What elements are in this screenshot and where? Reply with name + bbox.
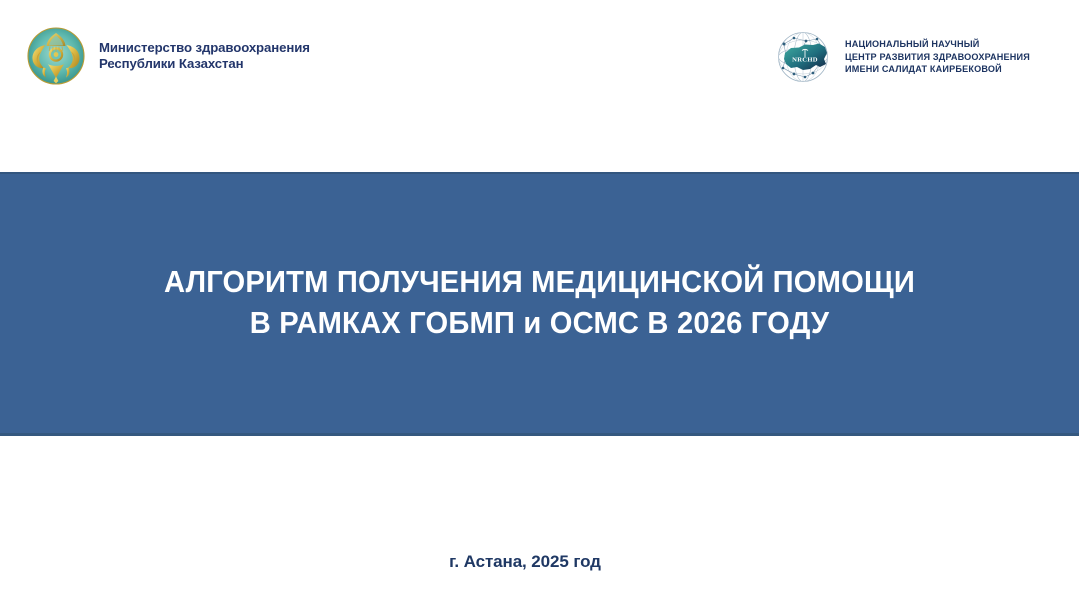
page-title-line-1: АЛГОРИТМ ПОЛУЧЕНИЯ МЕДИЦИНСКОЙ ПОМОЩИ bbox=[32, 261, 1046, 302]
nrchd-abbreviation-text: NRCHD bbox=[792, 56, 818, 63]
title-slide: Министерство здравоохранения Республики … bbox=[0, 0, 1079, 604]
slide-header: Министерство здравоохранения Республики … bbox=[0, 0, 1079, 118]
nrchd-name-line-1: НАЦИОНАЛЬНЫЙ НАУЧНЫЙ bbox=[845, 38, 1030, 50]
nrchd-name: НАЦИОНАЛЬНЫЙ НАУЧНЫЙ ЦЕНТР РАЗВИТИЯ ЗДРА… bbox=[845, 38, 1030, 75]
nrchd-name-line-2: ЦЕНТР РАЗВИТИЯ ЗДРАВООХРАНЕНИЯ bbox=[845, 51, 1030, 63]
ministry-org-block: Министерство здравоохранения Республики … bbox=[26, 26, 310, 86]
page-title-conjunction: и bbox=[523, 305, 541, 340]
nrchd-globe-logo-icon: NRCHD bbox=[772, 28, 834, 86]
title-banner: АЛГОРИТМ ПОЛУЧЕНИЯ МЕДИЦИНСКОЙ ПОМОЩИ В … bbox=[0, 172, 1079, 436]
place-and-year: г. Астана, 2025 год bbox=[449, 552, 601, 571]
page-title-line-2-part-1: В РАМКАХ ГОБМП bbox=[250, 305, 524, 340]
ministry-name: Министерство здравоохранения Республики … bbox=[99, 40, 310, 73]
page-title: АЛГОРИТМ ПОЛУЧЕНИЯ МЕДИЦИНСКОЙ ПОМОЩИ В … bbox=[32, 261, 1046, 347]
nrchd-name-line-3: ИМЕНИ САЛИДАТ КАИРБЕКОВОЙ bbox=[845, 63, 1030, 75]
kazakhstan-state-emblem-icon bbox=[26, 26, 86, 86]
slide-footer: г. Астана, 2025 год bbox=[0, 552, 1050, 572]
ministry-name-line-1: Министерство здравоохранения bbox=[99, 40, 310, 57]
nrchd-org-block: NRCHD НАЦИОНАЛЬНЫЙ НАУЧНЫЙ ЦЕНТР РАЗВИТИ… bbox=[772, 28, 1030, 86]
ministry-name-line-2: Республики Казахстан bbox=[99, 56, 310, 73]
page-title-line-2-part-2: ОСМС В 2026 ГОДУ bbox=[541, 305, 829, 340]
page-title-line-2: В РАМКАХ ГОБМП и ОСМС В 2026 ГОДУ bbox=[32, 302, 1046, 343]
